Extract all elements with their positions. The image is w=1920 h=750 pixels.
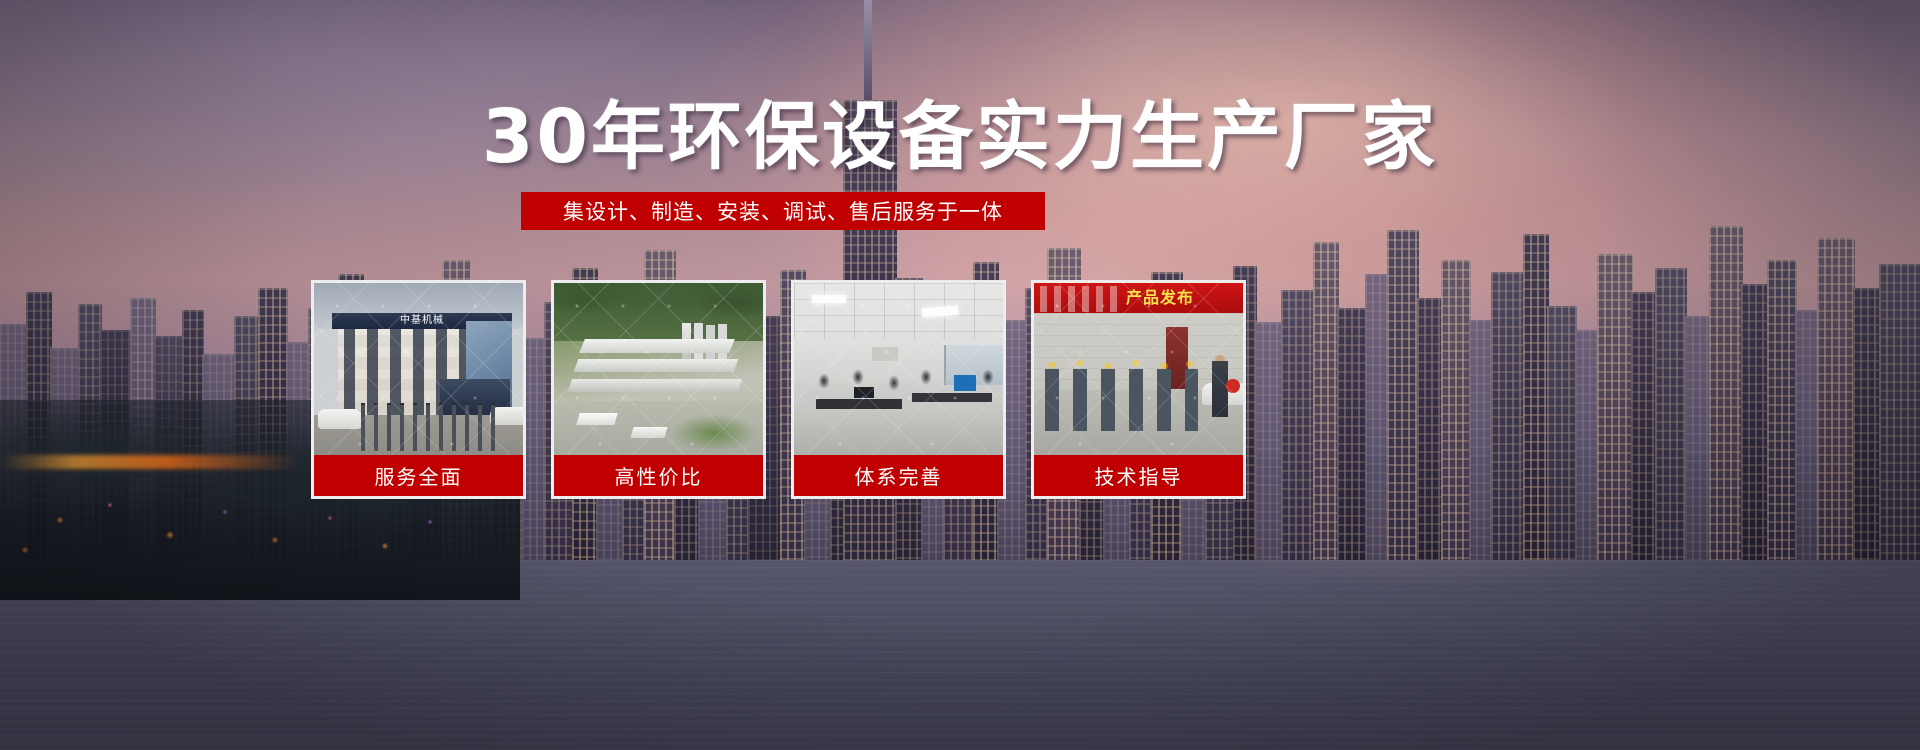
page-title: 30年环保设备实力生产厂家 <box>0 100 1920 174</box>
feature-card[interactable]: 体系完善 <box>791 280 1006 499</box>
feature-card[interactable]: 中基机械 服务全面 <box>311 280 526 499</box>
office-building-photo: 中基机械 <box>314 283 523 455</box>
building-signage-text: 中基机械 <box>366 314 478 328</box>
factory-workers-photo: 产品发布 <box>1034 283 1243 455</box>
hero-content: 30年环保设备实力生产厂家 集设计、制造、安装、调试、售后服务于一体 中基机械 <box>0 0 1920 750</box>
subtitle-banner-text: 集设计、制造、安装、调试、售后服务于一体 <box>563 196 1003 226</box>
subtitle-banner: 集设计、制造、安装、调试、售后服务于一体 <box>521 192 1045 230</box>
card-label: 体系完善 <box>794 455 1003 496</box>
card-photo <box>554 283 763 455</box>
card-photo: 产品发布 <box>1034 283 1243 455</box>
card-photo <box>794 283 1003 455</box>
feature-card[interactable]: 产品发布 技术指导 <box>1031 280 1246 499</box>
card-photo: 中基机械 <box>314 283 523 455</box>
card-label: 高性价比 <box>554 455 763 496</box>
card-label: 技术指导 <box>1034 455 1243 496</box>
feature-card-list: 中基机械 服务全面 <box>311 280 1246 499</box>
office-interior-photo <box>794 283 1003 455</box>
factory-banner-text: 产品发布 <box>1126 285 1243 311</box>
industrial-plant-photo <box>554 283 763 455</box>
feature-card[interactable]: 高性价比 <box>551 280 766 499</box>
hero-banner: 30年环保设备实力生产厂家 集设计、制造、安装、调试、售后服务于一体 中基机械 <box>0 0 1920 750</box>
card-label: 服务全面 <box>314 455 523 496</box>
